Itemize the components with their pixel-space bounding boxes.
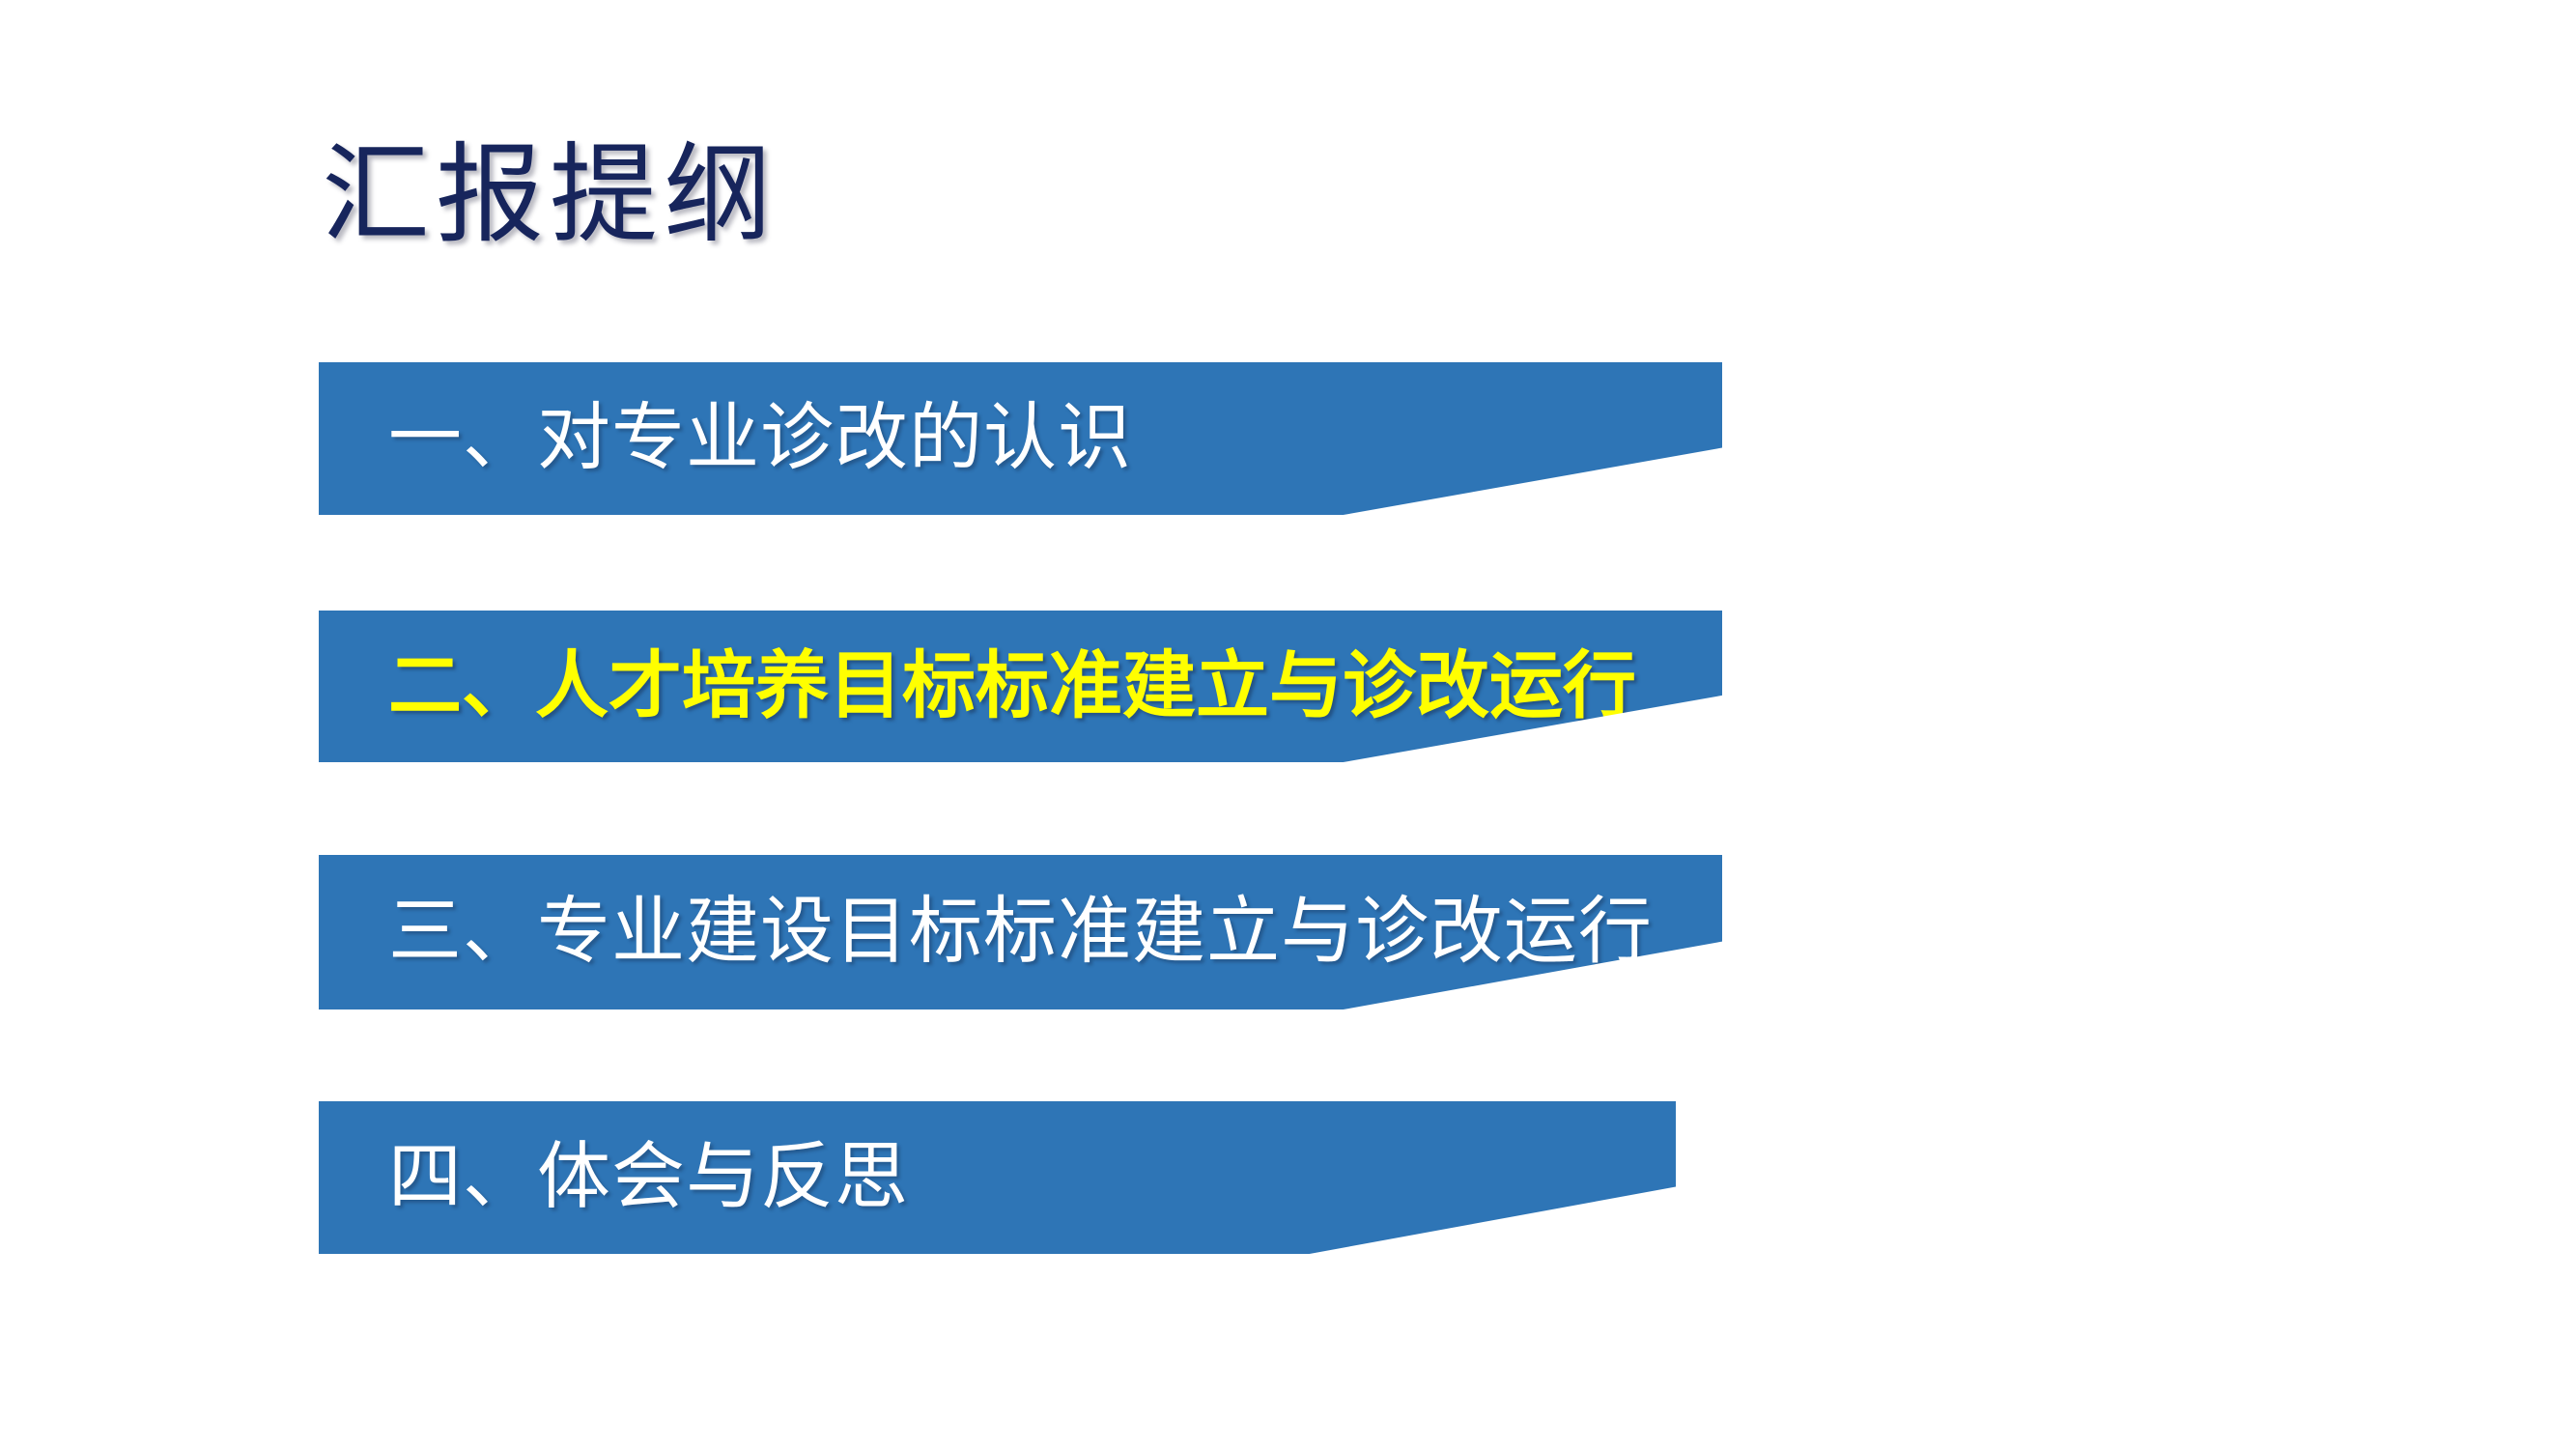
agenda-item-4[interactable]: 四、体会与反思 — [319, 1101, 1676, 1254]
agenda-item-3[interactable]: 三、专业建设目标标准建立与诊改运行 — [319, 855, 1722, 1009]
presentation-slide: 汇报提纲 一、对专业诊改的认识 二、人才培养目标标准建立与诊改运行 三、专业建设… — [0, 0, 2576, 1450]
agenda-item-2[interactable]: 二、人才培养目标标准建立与诊改运行 — [319, 611, 1722, 762]
agenda-item-2-label: 二、人才培养目标标准建立与诊改运行 — [319, 650, 1636, 724]
agenda-item-4-label: 四、体会与反思 — [319, 1141, 909, 1214]
agenda-item-1-label: 一、对专业诊改的认识 — [319, 402, 1132, 475]
agenda-item-3-label: 三、专业建设目标标准建立与诊改运行 — [319, 896, 1653, 969]
agenda-list: 一、对专业诊改的认识 二、人才培养目标标准建立与诊改运行 三、专业建设目标标准建… — [0, 0, 2576, 1450]
agenda-item-1[interactable]: 一、对专业诊改的认识 — [319, 362, 1722, 515]
